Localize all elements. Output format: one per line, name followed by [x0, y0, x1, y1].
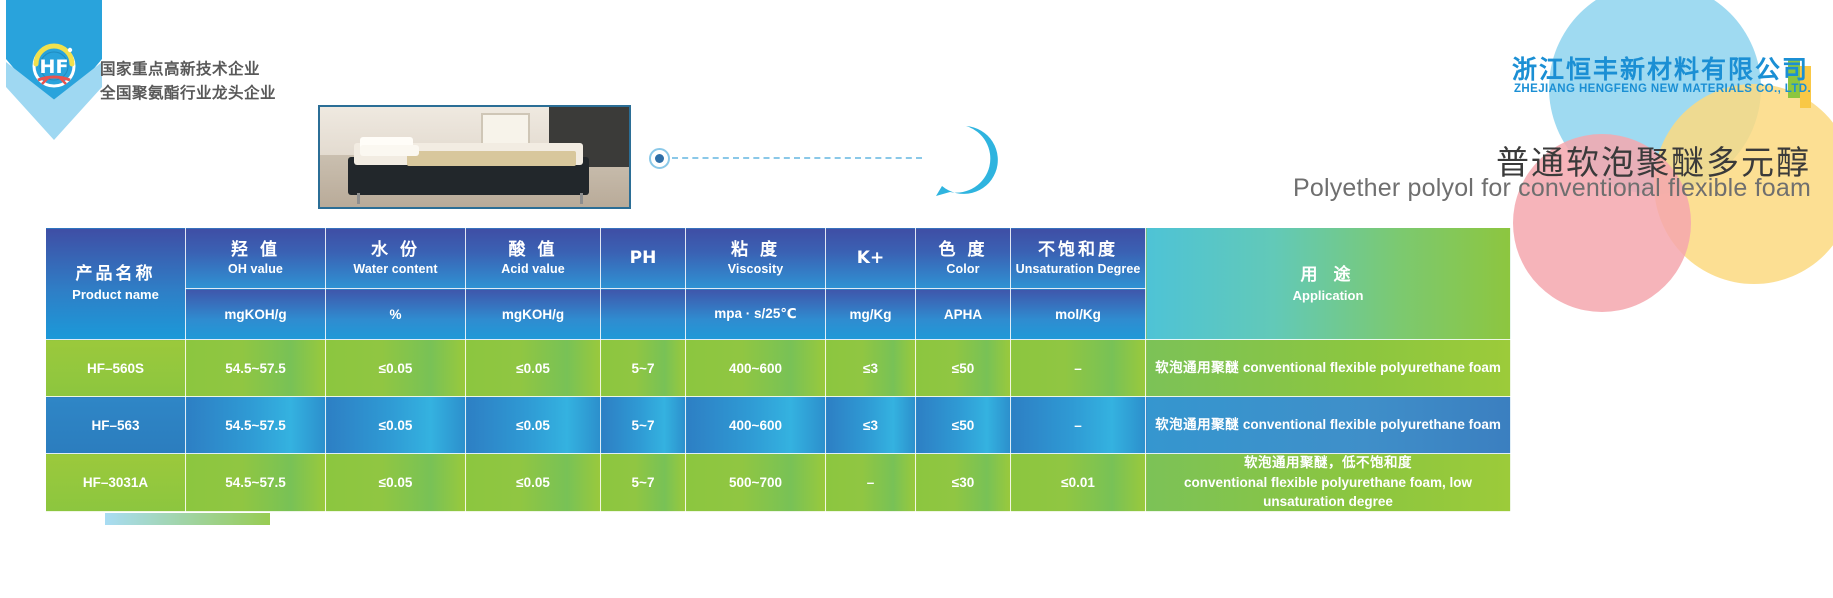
- cell-oh-value: 54.5~57.5: [186, 340, 326, 397]
- table-row: HF–560S 54.5~57.5 ≤0.05 ≤0.05 5~7 400~60…: [46, 340, 1511, 397]
- header-cn: 粘 度: [686, 240, 825, 261]
- photo-bed-leg: [580, 193, 583, 204]
- cell-application: 软泡通用聚醚 conventional flexible polyurethan…: [1146, 397, 1511, 454]
- cell-unsaturation: –: [1011, 340, 1146, 397]
- photo-bed-leg: [357, 193, 360, 204]
- header-cell-unsaturation: 不饱和度 Unsaturation Degree: [1011, 228, 1146, 289]
- application-en: conventional flexible polyurethane foam,…: [1146, 473, 1510, 511]
- cell-acid-value: ≤0.05: [466, 454, 601, 512]
- photo-blanket: [407, 151, 577, 166]
- unit-cell-ph: [601, 289, 686, 340]
- header-cn: PH: [601, 228, 685, 288]
- connector-dashed-line: [672, 157, 922, 159]
- header-cell-oh-value: 羟 值 OH value: [186, 228, 326, 289]
- cell-color: ≤30: [916, 454, 1011, 512]
- cell-application: 软泡通用聚醚 conventional flexible polyurethan…: [1146, 340, 1511, 397]
- unit-cell-viscosity: mpa · s/25℃: [686, 289, 826, 340]
- header-cell-viscosity: 粘 度 Viscosity: [686, 228, 826, 289]
- header-en: Product name: [46, 286, 185, 304]
- cell-acid-value: ≤0.05: [466, 397, 601, 454]
- product-photo-bedroom: [318, 105, 631, 209]
- header-cell-product-name: 产品名称 Product name: [46, 228, 186, 340]
- company-name-cn: 浙江恒丰新材料有限公司: [1512, 50, 1809, 86]
- header-cn: 用 途: [1146, 263, 1510, 287]
- header-en: Viscosity: [686, 261, 825, 277]
- spec-table-container: 产品名称 Product name 羟 值 OH value 水 份 Water…: [45, 227, 1510, 505]
- table-row: HF–3031A 54.5~57.5 ≤0.05 ≤0.05 5~7 500~7…: [46, 454, 1511, 512]
- cell-product-name: HF–3031A: [46, 454, 186, 512]
- header-cell-color: 色 度 Color: [916, 228, 1011, 289]
- application-cn: 软泡通用聚醚: [1155, 360, 1239, 376]
- header-cn: 羟 值: [186, 240, 325, 261]
- header-cn: 水 份: [326, 240, 465, 261]
- connector-dot-icon: [649, 148, 670, 169]
- header-cell-application: 用 途 Application: [1146, 228, 1511, 340]
- cell-water-content: ≤0.05: [326, 340, 466, 397]
- table-row: HF–563 54.5~57.5 ≤0.05 ≤0.05 5~7 400~600…: [46, 397, 1511, 454]
- cell-oh-value: 54.5~57.5: [186, 454, 326, 512]
- header-cn: 产品名称: [46, 263, 185, 286]
- cell-water-content: ≤0.05: [326, 454, 466, 512]
- cell-application: 软泡通用聚醚，低不饱和度 conventional flexible polyu…: [1146, 454, 1511, 512]
- cell-water-content: ≤0.05: [326, 397, 466, 454]
- cell-oh-value: 54.5~57.5: [186, 397, 326, 454]
- header-en: OH value: [186, 261, 325, 277]
- header-cn: 酸 值: [466, 240, 600, 261]
- cell-product-name: HF–563: [46, 397, 186, 454]
- company-name-en: ZHEJIANG HENGFENG NEW MATERIALS CO., LTD…: [1514, 83, 1811, 95]
- unit-cell-color: APHA: [916, 289, 1011, 340]
- cell-acid-value: ≤0.05: [466, 340, 601, 397]
- header-en: Water content: [326, 261, 465, 277]
- cell-ph: 5~7: [601, 454, 686, 512]
- company-tagline: 国家重点高新技术企业 全国聚氨酯行业龙头企业: [100, 58, 276, 106]
- header-en: Unsaturation Degree: [1011, 261, 1145, 277]
- header-en: Color: [916, 261, 1010, 277]
- unit-cell-water-content: %: [326, 289, 466, 340]
- cell-unsaturation: ≤0.01: [1011, 454, 1146, 512]
- cell-viscosity: 400~600: [686, 397, 826, 454]
- section-title-en: Polyether polyol for conventional flexib…: [1293, 174, 1811, 203]
- unit-cell-oh-value: mgKOH/g: [186, 289, 326, 340]
- tagline-line-1: 国家重点高新技术企业: [100, 58, 276, 82]
- header-cn: K+: [826, 228, 915, 288]
- photo-pillow: [360, 145, 419, 156]
- page-root: HF 国家重点高新技术企业 全国聚氨酯行业龙头企业 2 浙江恒丰新材料有限公司: [0, 0, 1833, 598]
- cell-ph: 5~7: [601, 397, 686, 454]
- header-cn: 不饱和度: [1011, 240, 1145, 261]
- application-en: conventional flexible polyurethane foam: [1243, 417, 1501, 432]
- company-emblem-icon: HF: [22, 34, 86, 98]
- header-cell-ph: PH: [601, 228, 686, 289]
- unit-cell-unsaturation: mol/Kg: [1011, 289, 1146, 340]
- cell-k-plus: –: [826, 454, 916, 512]
- header-en: Application: [1146, 287, 1510, 305]
- unit-cell-acid-value: mgKOH/g: [466, 289, 601, 340]
- section-number-bubble: 2: [928, 122, 1004, 198]
- cell-ph: 5~7: [601, 340, 686, 397]
- section-number-text: 2: [953, 136, 978, 182]
- bottom-accent-stripe: [105, 513, 270, 525]
- application-cn: 软泡通用聚醚: [1155, 417, 1239, 433]
- cell-k-plus: ≤3: [826, 340, 916, 397]
- cell-k-plus: ≤3: [826, 397, 916, 454]
- header-cn: 色 度: [916, 240, 1010, 261]
- header-cell-acid-value: 酸 值 Acid value: [466, 228, 601, 289]
- header-cell-water-content: 水 份 Water content: [326, 228, 466, 289]
- header-cell-k-plus: K+: [826, 228, 916, 289]
- application-cn: 软泡通用聚醚，低不饱和度: [1146, 454, 1510, 473]
- cell-viscosity: 400~600: [686, 340, 826, 397]
- cell-unsaturation: –: [1011, 397, 1146, 454]
- table-header-row-1: 产品名称 Product name 羟 值 OH value 水 份 Water…: [46, 228, 1511, 289]
- tagline-line-2: 全国聚氨酯行业龙头企业: [100, 82, 276, 106]
- cell-viscosity: 500~700: [686, 454, 826, 512]
- cell-color: ≤50: [916, 340, 1011, 397]
- cell-product-name: HF–560S: [46, 340, 186, 397]
- unit-cell-k-plus: mg/Kg: [826, 289, 916, 340]
- application-en: conventional flexible polyurethane foam: [1243, 360, 1501, 375]
- svg-text:HF: HF: [40, 56, 69, 78]
- cell-color: ≤50: [916, 397, 1011, 454]
- header-en: Acid value: [466, 261, 600, 277]
- spec-table: 产品名称 Product name 羟 值 OH value 水 份 Water…: [45, 227, 1511, 512]
